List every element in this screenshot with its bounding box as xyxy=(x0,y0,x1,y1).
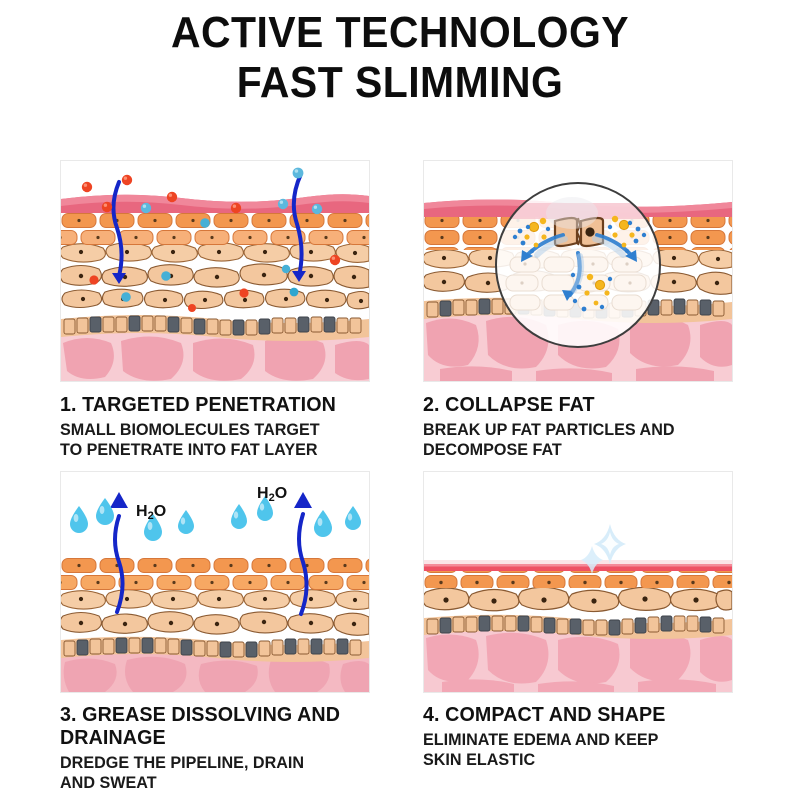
title-line-2: FAST SLIMMING xyxy=(28,58,772,108)
page-title: ACTIVE TECHNOLOGY FAST SLIMMING xyxy=(0,0,800,108)
step-3-title: 3. GREASE DISSOLVING AND DRAINAGE xyxy=(60,703,358,749)
step-2: 2. COLLAPSE FAT BREAK UP FAT PARTICLES A… xyxy=(423,160,733,459)
step-4-title: 4. COMPACT AND SHAPE xyxy=(423,703,721,726)
infographic-page: ACTIVE TECHNOLOGY FAST SLIMMING xyxy=(0,0,800,800)
collapse-fat-diagram xyxy=(423,160,733,382)
grease-dissolving-drainage-diagram: H2O H2O xyxy=(60,471,370,693)
title-line-1: ACTIVE TECHNOLOGY xyxy=(28,8,772,58)
targeted-penetration-diagram xyxy=(60,160,370,382)
compact-and-shape-diagram xyxy=(423,471,733,693)
step-2-title: 2. COLLAPSE FAT xyxy=(423,393,721,416)
step-2-subtitle: BREAK UP FAT PARTICLES AND DECOMPOSE FAT xyxy=(423,420,718,459)
step-1: 1. TARGETED PENETRATION SMALL BIOMOLECUL… xyxy=(60,160,370,459)
step-4: 4. COMPACT AND SHAPE ELIMINATE EDEMA AND… xyxy=(423,471,733,792)
step-1-title: 1. TARGETED PENETRATION xyxy=(60,393,358,416)
steps-grid: 1. TARGETED PENETRATION SMALL BIOMOLECUL… xyxy=(0,160,800,792)
step-4-subtitle: ELIMINATE EDEMA AND KEEP SKIN ELASTIC xyxy=(423,730,718,769)
step-3-subtitle: DREDGE THE PIPELINE, DRAIN AND SWEAT xyxy=(60,753,355,792)
step-3: H2O H2O 3. GREASE DISSOLVING AND DRAINAG… xyxy=(60,471,370,792)
step-1-subtitle: SMALL BIOMOLECULES TARGET TO PENETRATE I… xyxy=(60,420,355,459)
